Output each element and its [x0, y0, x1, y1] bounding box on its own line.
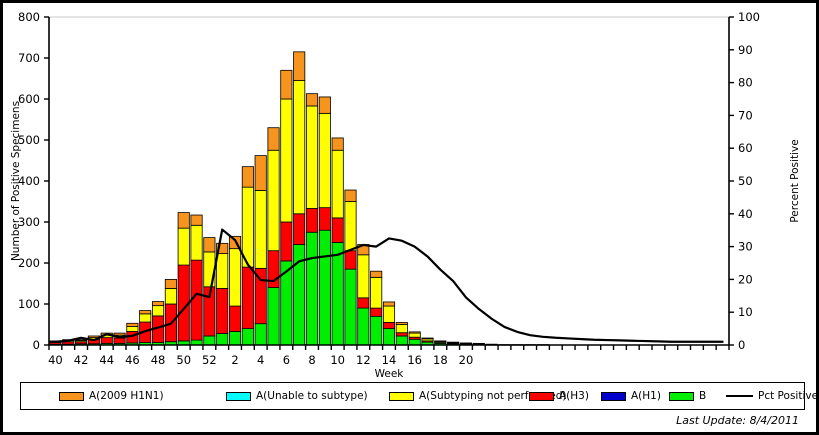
bar-segment — [396, 333, 407, 336]
bar-segment — [319, 208, 330, 231]
bar-segment — [191, 225, 202, 260]
y2-axis-tick-label: 30 — [738, 240, 753, 254]
bar-stack — [229, 236, 240, 345]
x-axis-tick-label: 48 — [151, 353, 166, 367]
bar-segment — [114, 338, 125, 343]
bar-segment — [217, 334, 228, 345]
bar-segment — [242, 267, 253, 329]
legend-item-label: A(2009 H1N1) — [89, 390, 164, 402]
bar-segment — [435, 341, 446, 342]
bar-stack — [319, 97, 330, 345]
bar-segment — [229, 306, 240, 331]
x-axis-tick-label: 2 — [231, 353, 238, 367]
bar-segment — [255, 156, 266, 191]
x-axis-tick-label: 4 — [257, 353, 264, 367]
x-axis-tick-label: 18 — [433, 353, 448, 367]
legend-item-label: A(H3) — [559, 390, 589, 402]
bar-segment — [383, 329, 394, 345]
bar-segment — [332, 150, 343, 218]
bar-segment — [114, 333, 125, 335]
bar-segment — [409, 333, 420, 337]
y2-axis-tick-label: 100 — [738, 10, 760, 24]
legend-item-label: A(H1) — [631, 390, 661, 402]
y-axis-tick-label: 800 — [18, 10, 40, 24]
legend-swatch-icon-a_h3 — [529, 392, 554, 401]
y-axis-tick-label: 0 — [33, 338, 40, 352]
bar-segment — [140, 311, 151, 314]
bar-segment — [191, 215, 202, 225]
x-axis-tick-label: 44 — [99, 353, 114, 367]
bar-segment — [371, 308, 382, 316]
bar-segment — [140, 314, 151, 322]
x-axis-tick-label: 12 — [356, 353, 371, 367]
bar-stack — [294, 52, 305, 345]
bar-segment — [178, 213, 189, 229]
bar-segment — [255, 324, 266, 345]
bar-stack — [332, 138, 343, 345]
bar-segment — [152, 302, 163, 306]
y-axis-title: Number of Positive Specimens — [10, 101, 22, 261]
x-axis-tick-label: 20 — [459, 353, 474, 367]
bar-segment — [396, 336, 407, 345]
x-axis-tick-label: 46 — [125, 353, 140, 367]
bar-segment — [358, 298, 369, 308]
bar-segment — [448, 342, 459, 343]
bar-stack — [422, 338, 433, 345]
bar-segment — [165, 288, 176, 304]
chart-legend: A(2009 H1N1)A(Unable to subtype)A(Subtyp… — [20, 382, 805, 410]
legend-item-a_h3[interactable]: A(H3) — [529, 390, 589, 402]
bar-segment — [358, 255, 369, 298]
bar-segment — [319, 113, 330, 207]
bar-stack — [191, 215, 202, 345]
bar-segment — [371, 271, 382, 277]
y2-axis-tick-label: 10 — [738, 305, 753, 319]
bar-segment — [178, 228, 189, 265]
bar-segment — [242, 329, 253, 345]
bar-segment — [101, 338, 112, 344]
bar-stack — [268, 128, 279, 345]
y2-axis-tick-label: 40 — [738, 207, 753, 221]
legend-line-icon-pct_positive — [726, 395, 753, 397]
bar-segment — [306, 208, 317, 232]
x-axis-tick-label: 42 — [74, 353, 89, 367]
legend-item-label: B — [699, 390, 706, 402]
bar-segment — [268, 128, 279, 151]
bar-segment — [229, 331, 240, 345]
legend-item-a_h1[interactable]: A(H1) — [601, 390, 661, 402]
bar-segment — [281, 99, 292, 222]
bar-stack — [114, 333, 125, 345]
x-axis-tick-label: 6 — [283, 353, 290, 367]
legend-swatch-icon-a_h1 — [601, 392, 626, 401]
bar-segment — [229, 249, 240, 306]
y2-axis-tick-label: 0 — [738, 338, 745, 352]
bar-segment — [204, 336, 215, 345]
bar-segment — [268, 288, 279, 345]
x-axis-tick-label: 8 — [308, 353, 315, 367]
last-update-label: Last Update: 8/4/2011 — [676, 414, 799, 427]
legend-item-a_unable[interactable]: A(Unable to subtype) — [226, 390, 368, 402]
bar-segment — [127, 323, 138, 326]
bar-segment — [306, 94, 317, 106]
y2-axis-tick-label: 90 — [738, 43, 753, 57]
y2-axis-tick-label: 60 — [738, 141, 753, 155]
y-axis-tick-label: 700 — [18, 51, 40, 65]
bar-segment — [268, 150, 279, 250]
bar-stack — [281, 70, 292, 345]
bar-segment — [371, 277, 382, 308]
bar-stack — [345, 190, 356, 345]
bar-segment — [383, 306, 394, 322]
bar-segment — [358, 308, 369, 345]
x-axis-tick-label: 14 — [382, 353, 397, 367]
bar-segment — [319, 230, 330, 345]
y2-axis-tick-label: 50 — [738, 174, 753, 188]
bar-segment — [255, 190, 266, 268]
bar-segment — [383, 322, 394, 328]
bar-segment — [460, 343, 471, 344]
x-axis-tick-label: 10 — [330, 353, 345, 367]
x-axis-title: Week — [375, 368, 405, 380]
bar-stack — [140, 311, 151, 345]
bar-stack — [165, 279, 176, 345]
bar-segment — [306, 232, 317, 345]
legend-swatch-icon-a_unable — [226, 392, 251, 401]
bar-segment — [473, 343, 484, 344]
bar-segment — [217, 288, 228, 333]
y2-axis-tick-label: 70 — [738, 108, 753, 122]
legend-item-label: A(Unable to subtype) — [256, 390, 368, 402]
legend-item-label: Pct Positive — [758, 390, 818, 402]
bar-stack — [371, 271, 382, 345]
bar-segment — [319, 97, 330, 113]
bar-stack — [306, 94, 317, 345]
bar-segment — [396, 325, 407, 333]
flu-surveillance-chart: 0100200300400500600700800Number of Posit… — [3, 3, 819, 381]
bar-segment — [409, 339, 420, 345]
bar-stack — [178, 213, 189, 345]
bar-segment — [281, 222, 292, 261]
legend-swatch-icon-a_2009_h1n1 — [59, 392, 84, 401]
legend-swatch-icon-a_subtyping_not_performed — [389, 392, 414, 401]
legend-item-a_2009_h1n1[interactable]: A(2009 H1N1) — [59, 390, 164, 402]
x-axis-tick-label: 50 — [176, 353, 191, 367]
bar-segment — [332, 218, 343, 243]
bar-segment — [204, 238, 215, 252]
bar-stack — [409, 332, 420, 345]
bar-segment — [345, 251, 356, 269]
bar-segment — [332, 138, 343, 150]
bar-segment — [396, 322, 407, 324]
bar-stack — [383, 302, 394, 345]
legend-item-b[interactable]: B — [669, 390, 706, 402]
bar-segment — [165, 279, 176, 288]
x-axis-tick-label: 52 — [202, 353, 217, 367]
y2-axis-tick-label: 20 — [738, 272, 753, 286]
bar-segment — [294, 52, 305, 81]
y-axis-tick-label: 100 — [18, 297, 40, 311]
x-axis-tick-label: 16 — [407, 353, 422, 367]
bar-segment — [294, 81, 305, 214]
bar-segment — [217, 254, 228, 289]
legend-swatch-icon-b — [669, 392, 694, 401]
bar-segment — [281, 70, 292, 99]
bar-segment — [345, 269, 356, 345]
bar-stack — [358, 245, 369, 345]
y2-axis-title: Percent Positive — [789, 139, 801, 222]
bar-stack — [217, 243, 228, 345]
x-axis-tick-label: 40 — [48, 353, 63, 367]
bar-segment — [332, 243, 343, 346]
bar-segment — [345, 190, 356, 201]
bar-segment — [409, 332, 420, 333]
bar-segment — [422, 338, 433, 339]
bar-segment — [306, 106, 317, 209]
bar-stack — [255, 156, 266, 345]
bar-segment — [152, 306, 163, 316]
chart-frame: 0100200300400500600700800Number of Posit… — [0, 0, 819, 435]
bar-segment — [345, 202, 356, 251]
bar-segment — [371, 316, 382, 345]
bar-segment — [294, 214, 305, 245]
bar-stack — [396, 322, 407, 345]
bar-segment — [242, 167, 253, 188]
y2-axis-tick-label: 80 — [738, 76, 753, 90]
bar-stack — [152, 302, 163, 345]
legend-item-pct_positive[interactable]: Pct Positive — [726, 390, 818, 402]
bar-segment — [383, 302, 394, 306]
bar-segment — [127, 327, 138, 332]
